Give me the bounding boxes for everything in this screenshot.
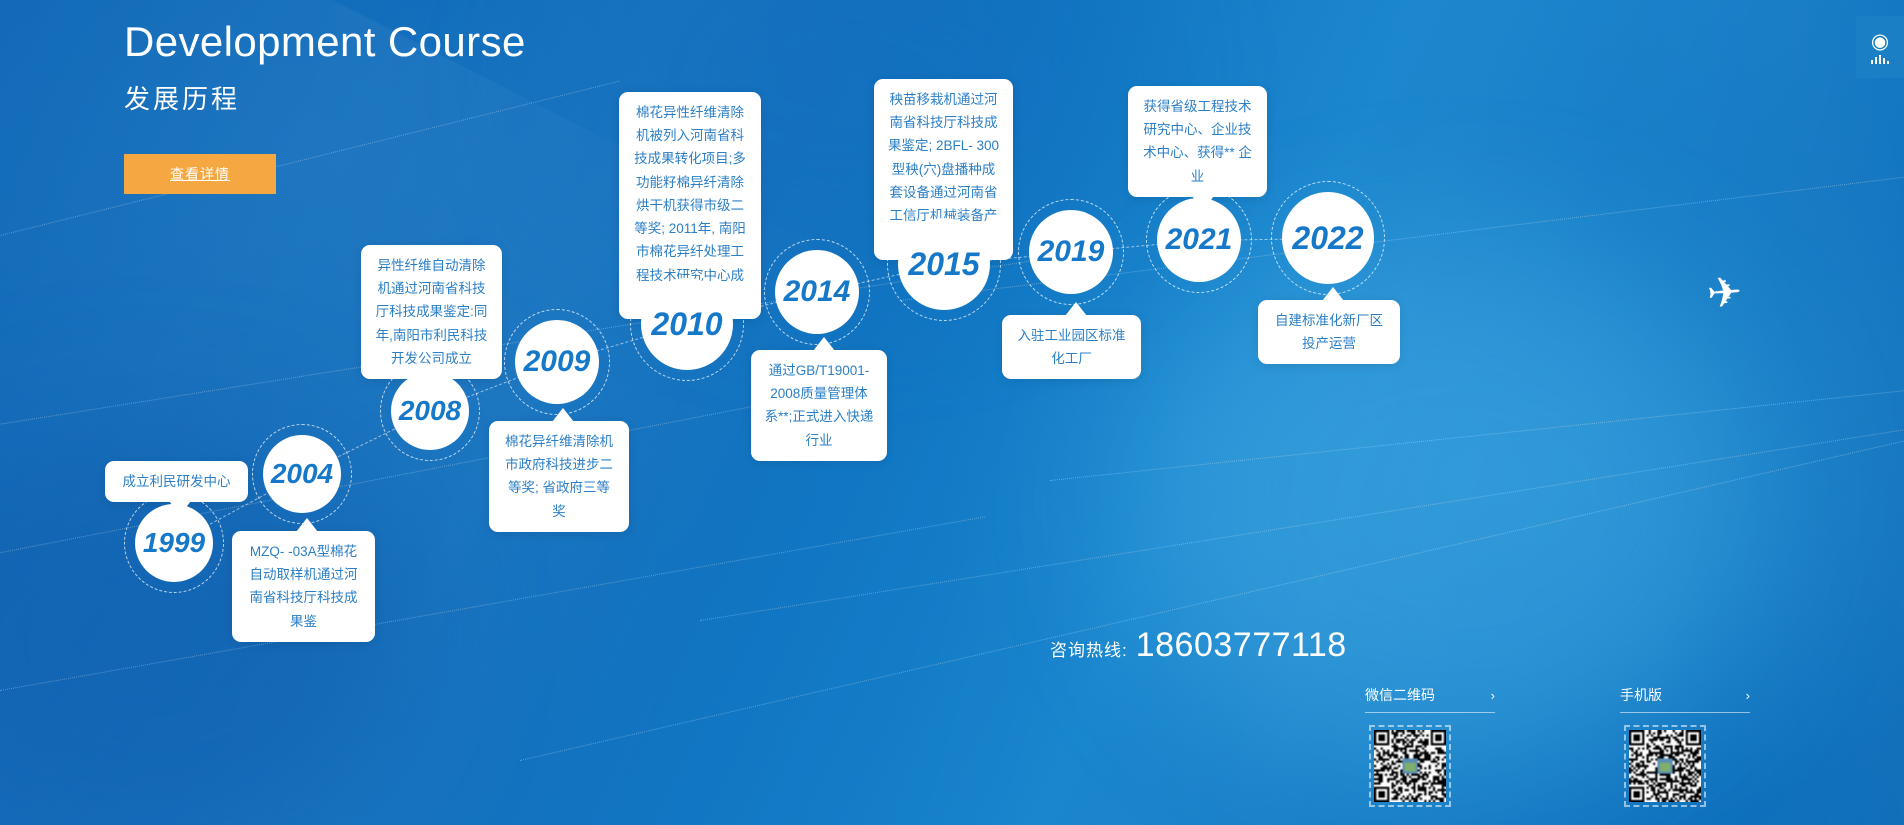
timeline-year-label: 2022 — [1292, 220, 1363, 257]
qr-code-header[interactable]: 微信二维码› — [1365, 685, 1495, 713]
page-title-cn: 发展历程 — [124, 79, 526, 116]
timeline-card-2009[interactable]: 棉花异纤维清除机市政府科技进步二等奖; 省政府三等奖 — [489, 421, 629, 532]
timeline-card-2008[interactable]: 异性纤维自动清除机通过河南省科技厅科技成果鉴定:同年,南阳市利民科技开发公司成立 — [361, 245, 502, 379]
view-detail-button[interactable]: 查看详情 — [124, 154, 276, 194]
timeline-year-label: 2021 — [1166, 223, 1233, 257]
timeline-card-text: 入驻工业园区标准化工厂 — [1015, 324, 1128, 370]
timeline-card-2014[interactable]: 通过GB/T19001-2008质量管理体系**;正式进入快递行业 — [751, 350, 887, 461]
hotline: 咨询热线: 18603777118 — [1050, 626, 1347, 665]
qr-code-item-2[interactable]: 手机版› — [1620, 685, 1740, 807]
timeline-year-circle-2008[interactable]: 2008 — [391, 372, 469, 450]
timeline-card-text: 通过GB/T19001-2008质量管理体系**;正式进入快递行业 — [764, 359, 874, 452]
timeline-year-circle-1999[interactable]: 1999 — [135, 504, 213, 582]
hotline-label: 咨询热线: — [1050, 636, 1128, 661]
footer: 咨询热线: 18603777118 微信二维码›手机版› — [0, 625, 1904, 825]
page-title-en: Development Course — [124, 16, 526, 69]
timeline-year-label: 2009 — [524, 345, 591, 379]
qr-code-item-1[interactable]: 微信二维码› — [1365, 685, 1485, 807]
timeline-year-circle-2021[interactable]: 2021 — [1157, 198, 1241, 282]
timeline-year-label: 2010 — [651, 306, 722, 343]
chevron-right-icon: › — [1491, 688, 1495, 703]
timeline-card-2021[interactable]: 获得省级工程技术研究中心、企业技术中心、获得** 企业 — [1128, 86, 1267, 197]
chevron-right-icon: › — [1746, 688, 1750, 703]
timeline-card-text: 获得省级工程技术研究中心、企业技术中心、获得** 企业 — [1141, 95, 1254, 188]
qr-code-image — [1369, 725, 1451, 807]
timeline-year-circle-2009[interactable]: 2009 — [515, 320, 599, 404]
qr-code-header[interactable]: 手机版› — [1620, 685, 1750, 713]
page-header: Development Course 发展历程 查看详情 — [124, 16, 526, 194]
hotline-number: 18603777118 — [1136, 626, 1347, 665]
timeline-card-text: 异性纤维自动清除机通过河南省科技厅科技成果鉴定:同年,南阳市利民科技开发公司成立 — [374, 254, 489, 370]
timeline-year-label: 2004 — [271, 458, 333, 490]
timeline-year-label: 2014 — [784, 275, 851, 309]
timeline-year-label: 2008 — [399, 395, 461, 427]
timeline-card-2022[interactable]: 自建标准化新厂区投产运营 — [1258, 300, 1400, 364]
qr-code-label: 手机版 — [1620, 685, 1662, 705]
sound-bars-icon — [1871, 55, 1889, 64]
timeline-year-circle-2010[interactable]: 2010 — [641, 278, 733, 370]
timeline-card-text: 成立利民研发中心 — [123, 470, 231, 493]
timeline-year-circle-2015[interactable]: 2015 — [898, 218, 990, 310]
qr-code-label: 微信二维码 — [1365, 685, 1435, 705]
timeline-year-circle-2004[interactable]: 2004 — [263, 435, 341, 513]
online-service-widget[interactable]: ◉ — [1856, 16, 1904, 78]
timeline-card-text: 自建标准化新厂区投产运营 — [1271, 309, 1387, 355]
timeline-year-label: 2015 — [908, 246, 979, 283]
timeline-year-circle-2022[interactable]: 2022 — [1282, 192, 1374, 284]
timeline-card-text: MZQ- -03A型棉花自动取样机通过河南省科技厅科技成果鉴 — [245, 540, 362, 633]
timeline-year-circle-2014[interactable]: 2014 — [775, 250, 859, 334]
timeline-card-2019[interactable]: 入驻工业园区标准化工厂 — [1002, 315, 1141, 379]
qr-code-image — [1624, 725, 1706, 807]
headset-icon: ◉ — [1871, 31, 1889, 52]
qr-code-group: 微信二维码›手机版› — [1365, 685, 1740, 807]
timeline-card-text: 棉花异纤维清除机市政府科技进步二等奖; 省政府三等奖 — [502, 430, 616, 523]
timeline-year-label: 1999 — [143, 527, 205, 559]
timeline-year-label: 2019 — [1038, 235, 1105, 269]
timeline-year-circle-2019[interactable]: 2019 — [1029, 210, 1113, 294]
view-detail-label: 查看详情 — [170, 164, 230, 184]
